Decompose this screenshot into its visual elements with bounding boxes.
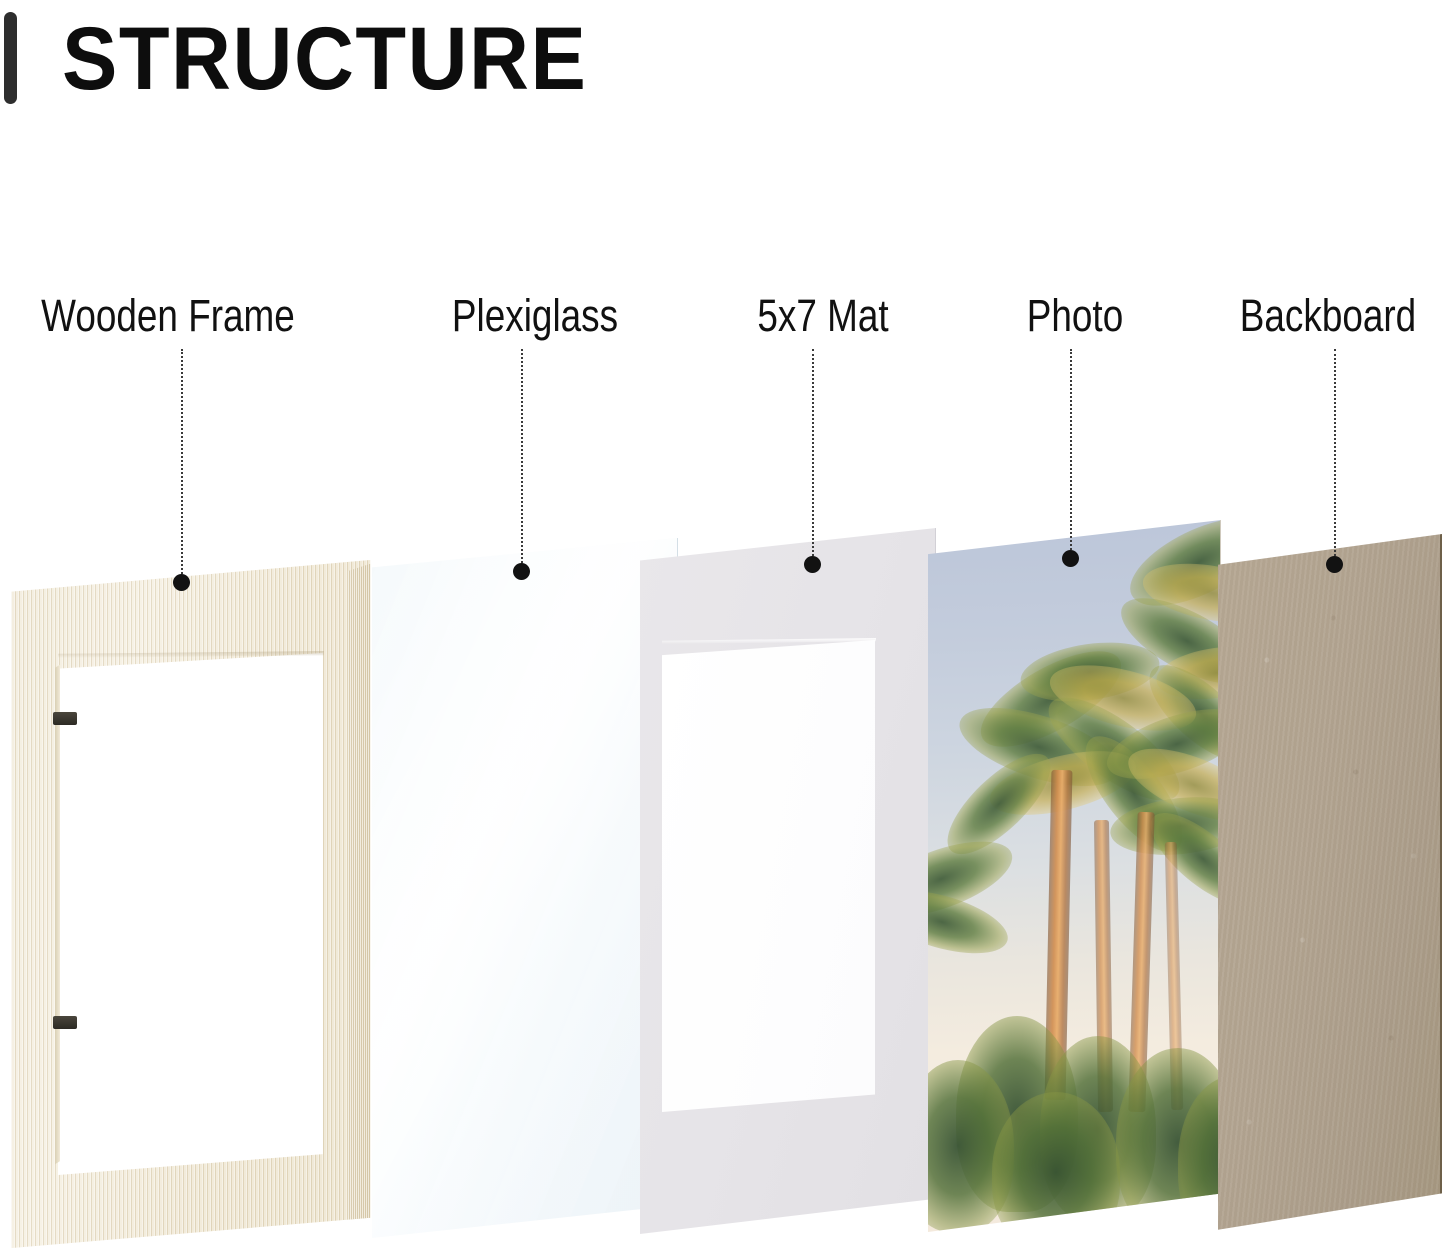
part-mat (640, 528, 936, 1234)
leader-dot-backboard (1326, 556, 1343, 573)
frame-inner-bevel (55, 653, 60, 1179)
frame-opening (58, 653, 323, 1175)
mat-window-aperture (662, 640, 875, 1112)
leader-line-plexiglass (521, 349, 523, 571)
leader-line-photo (1070, 349, 1072, 558)
part-photo (928, 520, 1221, 1232)
frame-clip-upper (53, 712, 77, 725)
leader-dot-plexiglass (513, 563, 530, 580)
leader-line-wooden-frame (181, 349, 183, 582)
leader-line-mat (812, 349, 814, 564)
exploded-view-diagram (0, 0, 1445, 1259)
plexiglass-sheen (372, 538, 677, 1238)
part-wooden-frame (10, 560, 372, 1248)
part-backboard (1218, 534, 1442, 1234)
leader-dot-mat (804, 556, 821, 573)
part-plexiglass (372, 538, 678, 1238)
leader-line-backboard (1334, 349, 1336, 564)
leader-dot-wooden-frame (173, 574, 190, 591)
leader-dot-photo (1062, 550, 1079, 567)
frame-clip-lower (53, 1016, 77, 1029)
backboard-texture (1218, 534, 1440, 1234)
